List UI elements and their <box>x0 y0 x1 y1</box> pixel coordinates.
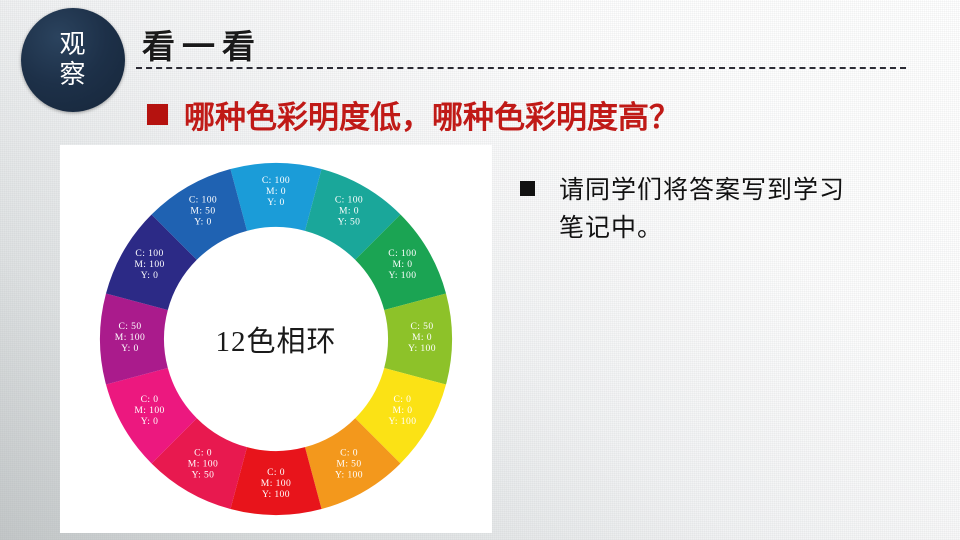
wheel-segment-label: C: 100M: 0Y: 100 <box>388 248 416 281</box>
badge-char-2: 察 <box>59 60 86 90</box>
wheel-center-title: 12色相环 <box>215 318 336 360</box>
note-row: 请同学们将答案写到学习笔记中。 <box>520 172 859 248</box>
color-wheel-image-panel: C: 100M: 0Y: 0C: 100M: 0Y: 50C: 100M: 0Y… <box>60 145 492 533</box>
wheel-segment-label: C: 100M: 0Y: 50 <box>335 195 363 228</box>
wheel-segment-label: C: 50M: 0Y: 100 <box>408 321 436 354</box>
color-wheel-chart: C: 100M: 0Y: 0C: 100M: 0Y: 50C: 100M: 0Y… <box>96 159 456 519</box>
dashed-divider <box>136 67 906 69</box>
question-bullet-icon <box>147 104 168 125</box>
section-kicker: 看一看 <box>142 20 262 68</box>
note-text: 请同学们将答案写到学习笔记中。 <box>559 172 859 248</box>
note-bullet-icon <box>520 181 535 196</box>
observe-badge: 观 察 <box>21 8 125 112</box>
question-text: 哪种色彩明度低，哪种色彩明度高？ <box>184 92 680 137</box>
slide-canvas: 观 察 看一看 哪种色彩明度低，哪种色彩明度高？ 请同学们将答案写到学习笔记中。… <box>0 0 960 540</box>
badge-char-1: 观 <box>59 30 86 60</box>
question-row: 哪种色彩明度低，哪种色彩明度高？ <box>147 92 680 137</box>
